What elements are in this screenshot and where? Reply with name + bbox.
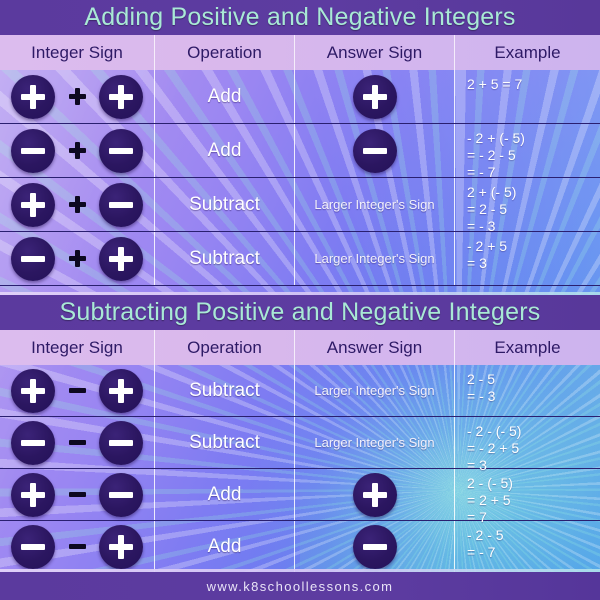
table-row: SubtractLarger Integer's Sign2 - 5 = - 3 — [0, 365, 600, 417]
cell-example: 2 + (- 5) = 2 - 5 = - 3 — [455, 178, 600, 231]
section-title-subtracting-text: Subtracting Positive and Negative Intege… — [60, 298, 541, 327]
cell-example: 2 - 5 = - 3 — [455, 365, 600, 416]
example-text: - 2 + 5 = 3 — [467, 238, 507, 272]
answer-sign-label: Larger Integer's Sign — [314, 435, 434, 450]
cell-example: - 2 - (- 5) = - 2 + 5 = 3 — [455, 417, 600, 468]
plus-operator-icon — [68, 250, 86, 268]
plus-operator-icon — [68, 88, 86, 106]
cell-integer-sign — [0, 417, 155, 468]
glyph-vertical-bar — [118, 379, 124, 403]
example-text: 2 - (- 5) = 2 + 5 = 7 — [467, 475, 513, 526]
minus-operator-icon — [68, 434, 86, 452]
integer-sign-group — [11, 421, 143, 465]
column-header-integer-sign: Integer Sign — [0, 330, 155, 365]
operator-vertical-bar — [75, 142, 80, 159]
cell-operation: Subtract — [155, 417, 295, 468]
cell-answer-sign: Larger Integer's Sign — [295, 178, 455, 231]
operation-label: Add — [208, 86, 242, 108]
glyph-horizontal-bar — [109, 148, 133, 154]
cell-operation: Add — [155, 521, 295, 572]
table-subtracting: Integer SignOperationAnswer SignExampleS… — [0, 330, 600, 573]
answer-sign-label: Larger Integer's Sign — [314, 383, 434, 398]
cell-integer-sign — [0, 469, 155, 520]
glyph-vertical-bar — [118, 85, 124, 109]
minus-circle-icon-right — [99, 183, 143, 227]
footer-url: www.k8schoollessons.com — [207, 579, 394, 594]
operator-vertical-bar — [75, 250, 80, 267]
example-text: - 2 - (- 5) = - 2 + 5 = 3 — [467, 423, 521, 474]
section-title-adding: Adding Positive and Negative Integers — [0, 0, 600, 35]
minus-circle-icon-right — [99, 473, 143, 517]
minus-circle-icon-right — [99, 421, 143, 465]
table-row: Add2 - (- 5) = 2 + 5 = 7 — [0, 469, 600, 521]
answer-sign-label: Larger Integer's Sign — [314, 197, 434, 212]
column-header-example: Example — [455, 330, 600, 365]
minus-circle-icon-left — [11, 237, 55, 281]
minus-circle-icon-right — [99, 129, 143, 173]
cell-answer-sign — [295, 469, 455, 520]
glyph-horizontal-bar — [363, 148, 387, 154]
cell-integer-sign — [0, 232, 155, 285]
glyph-vertical-bar — [372, 85, 378, 109]
operation-label: Add — [208, 536, 242, 558]
column-header-example: Example — [455, 35, 600, 70]
column-header-answer-sign: Answer Sign — [295, 35, 455, 70]
plus-circle-icon-answer — [353, 75, 397, 119]
glyph-horizontal-bar — [21, 544, 45, 550]
footer-band: www.k8schoollessons.com — [0, 572, 600, 600]
plus-circle-icon-left — [11, 75, 55, 119]
cell-integer-sign — [0, 124, 155, 177]
cell-operation: Subtract — [155, 178, 295, 231]
integer-sign-group — [11, 369, 143, 413]
column-header-operation: Operation — [155, 35, 295, 70]
operator-horizontal-bar — [69, 492, 86, 497]
cell-operation: Subtract — [155, 365, 295, 416]
integer-sign-group — [11, 525, 143, 569]
cell-integer-sign — [0, 521, 155, 572]
plus-circle-icon-right — [99, 525, 143, 569]
plus-circle-icon-answer — [353, 473, 397, 517]
minus-circle-icon-answer — [353, 525, 397, 569]
glyph-vertical-bar — [30, 193, 36, 217]
cell-example: - 2 + 5 = 3 — [455, 232, 600, 285]
cell-operation: Subtract — [155, 232, 295, 285]
integer-sign-group — [11, 129, 143, 173]
operator-horizontal-bar — [69, 440, 86, 445]
glyph-horizontal-bar — [109, 202, 133, 208]
glyph-vertical-bar — [372, 483, 378, 507]
example-text: - 2 - 5 = - 7 — [467, 527, 504, 561]
plus-circle-icon-left — [11, 183, 55, 227]
table-row: SubtractLarger Integer's Sign- 2 + 5 = 3 — [0, 232, 600, 286]
cell-answer-sign — [295, 521, 455, 572]
glyph-vertical-bar — [30, 483, 36, 507]
plus-circle-icon-right — [99, 237, 143, 281]
plus-circle-icon-right — [99, 369, 143, 413]
minus-operator-icon — [68, 538, 86, 556]
table-header-row: Integer SignOperationAnswer SignExample — [0, 330, 600, 365]
operation-label: Subtract — [189, 432, 260, 454]
column-header-integer-sign: Integer Sign — [0, 35, 155, 70]
operator-horizontal-bar — [69, 544, 86, 549]
cell-answer-sign — [295, 70, 455, 123]
plus-circle-icon-left — [11, 473, 55, 517]
plus-operator-icon — [68, 196, 86, 214]
minus-operator-icon — [68, 486, 86, 504]
section-title-adding-text: Adding Positive and Negative Integers — [84, 3, 515, 32]
table-row: Add- 2 + (- 5) = - 2 - 5 = - 7 — [0, 124, 600, 178]
minus-circle-icon-left — [11, 421, 55, 465]
glyph-horizontal-bar — [363, 544, 387, 550]
operator-vertical-bar — [75, 196, 80, 213]
integer-sign-group — [11, 473, 143, 517]
glyph-vertical-bar — [30, 379, 36, 403]
glyph-horizontal-bar — [21, 440, 45, 446]
cell-answer-sign: Larger Integer's Sign — [295, 232, 455, 285]
example-text: - 2 + (- 5) = - 2 - 5 = - 7 — [467, 130, 525, 181]
integer-rules-infographic: Adding Positive and Negative Integers In… — [0, 0, 600, 600]
section-title-subtracting: Subtracting Positive and Negative Intege… — [0, 295, 600, 330]
table-row: Add- 2 - 5 = - 7 — [0, 521, 600, 573]
integer-sign-group — [11, 237, 143, 281]
answer-sign-label: Larger Integer's Sign — [314, 251, 434, 266]
cell-example: - 2 + (- 5) = - 2 - 5 = - 7 — [455, 124, 600, 177]
minus-operator-icon — [68, 382, 86, 400]
section-divider-highlight — [0, 292, 600, 295]
cell-answer-sign: Larger Integer's Sign — [295, 365, 455, 416]
cell-example: 2 - (- 5) = 2 + 5 = 7 — [455, 469, 600, 520]
glyph-horizontal-bar — [109, 492, 133, 498]
cell-answer-sign: Larger Integer's Sign — [295, 417, 455, 468]
cell-integer-sign — [0, 70, 155, 123]
cell-integer-sign — [0, 178, 155, 231]
table-header-row: Integer SignOperationAnswer SignExample — [0, 35, 600, 70]
column-header-operation: Operation — [155, 330, 295, 365]
operation-label: Add — [208, 484, 242, 506]
cell-example: - 2 - 5 = - 7 — [455, 521, 600, 572]
cell-operation: Add — [155, 469, 295, 520]
operation-label: Subtract — [189, 248, 260, 270]
glyph-vertical-bar — [118, 247, 124, 271]
cell-answer-sign — [295, 124, 455, 177]
glyph-horizontal-bar — [109, 440, 133, 446]
minus-circle-icon-left — [11, 129, 55, 173]
operation-label: Subtract — [189, 380, 260, 402]
operator-vertical-bar — [75, 88, 80, 105]
plus-circle-icon-left — [11, 369, 55, 413]
example-text: 2 + (- 5) = 2 - 5 = - 3 — [467, 184, 516, 235]
minus-circle-icon-answer — [353, 129, 397, 173]
cell-operation: Add — [155, 124, 295, 177]
column-header-answer-sign: Answer Sign — [295, 330, 455, 365]
table-row: SubtractLarger Integer's Sign2 + (- 5) =… — [0, 178, 600, 232]
glyph-vertical-bar — [118, 535, 124, 559]
plus-operator-icon — [68, 142, 86, 160]
cell-integer-sign — [0, 365, 155, 416]
cell-operation: Add — [155, 70, 295, 123]
glyph-vertical-bar — [30, 85, 36, 109]
glyph-horizontal-bar — [21, 148, 45, 154]
example-text: 2 + 5 = 7 — [467, 76, 522, 93]
glyph-horizontal-bar — [21, 256, 45, 262]
operation-label: Add — [208, 140, 242, 162]
integer-sign-group — [11, 75, 143, 119]
minus-circle-icon-left — [11, 525, 55, 569]
integer-sign-group — [11, 183, 143, 227]
table-adding: Integer SignOperationAnswer SignExampleA… — [0, 35, 600, 286]
operation-label: Subtract — [189, 194, 260, 216]
operator-horizontal-bar — [69, 388, 86, 393]
table-row: Add2 + 5 = 7 — [0, 70, 600, 124]
example-text: 2 - 5 = - 3 — [467, 371, 495, 405]
plus-circle-icon-right — [99, 75, 143, 119]
table-row: SubtractLarger Integer's Sign- 2 - (- 5)… — [0, 417, 600, 469]
cell-example: 2 + 5 = 7 — [455, 70, 600, 123]
